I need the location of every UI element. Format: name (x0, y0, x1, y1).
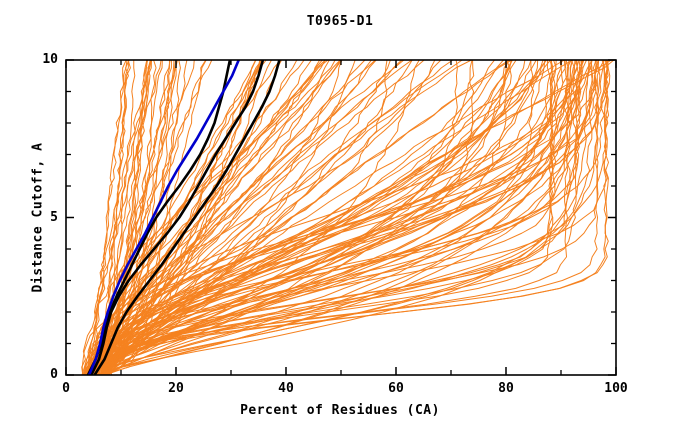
y-tick-label: 0 (24, 367, 58, 382)
y-tick-label: 10 (24, 52, 58, 67)
y-tick-label: 5 (24, 210, 58, 225)
x-tick-label: 40 (256, 381, 316, 396)
model-curve-orange (107, 60, 612, 375)
curve-group (82, 60, 614, 375)
model-curve-orange (104, 60, 580, 375)
x-tick-label: 80 (476, 381, 536, 396)
model-curve-orange (85, 60, 592, 375)
x-tick-label: 100 (586, 381, 646, 396)
x-tick-label: 60 (366, 381, 426, 396)
x-tick-label: 20 (146, 381, 206, 396)
plot-canvas (0, 0, 680, 440)
chart-figure: T0965-D1 Distance Cutoff, A Percent of R… (0, 0, 680, 440)
x-tick-label: 0 (36, 381, 96, 396)
